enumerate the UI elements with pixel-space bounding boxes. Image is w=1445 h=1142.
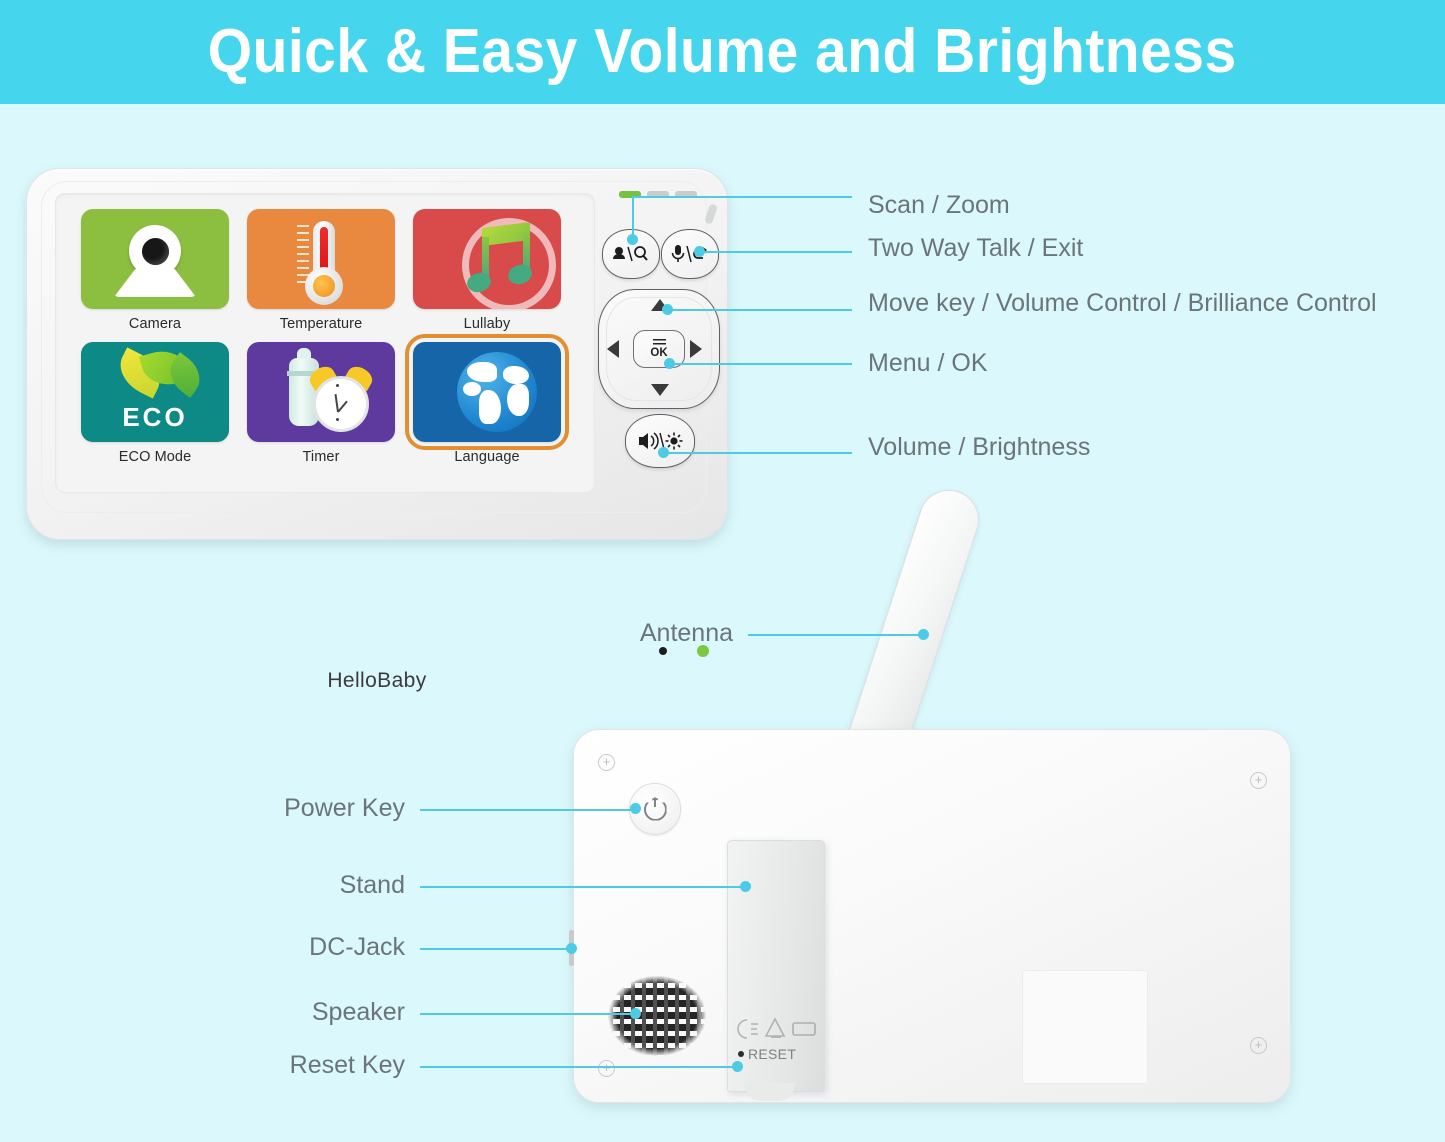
reset-label: RESET bbox=[748, 1046, 796, 1062]
eco-mode-tile-label: ECO Mode bbox=[81, 449, 229, 465]
callout-scan-zoom: Scan / Zoom bbox=[868, 193, 1010, 218]
screw-top-right: + bbox=[1250, 772, 1267, 789]
menu-item-camera[interactable]: Camera bbox=[81, 209, 229, 332]
lead-dot-dc-jack bbox=[566, 943, 577, 954]
lead-dot-power-key bbox=[630, 803, 641, 814]
page-title: Quick & Easy Volume and Brightness bbox=[208, 21, 1237, 83]
lead-dot-menu-ok bbox=[664, 358, 675, 369]
callout-stand: Stand bbox=[340, 873, 405, 898]
speaker-grille bbox=[598, 964, 716, 1068]
timer-tile[interactable] bbox=[247, 342, 395, 442]
lead-line-move-key bbox=[668, 309, 852, 311]
lead-line-menu-ok bbox=[670, 363, 852, 365]
dpad-left-arrow-icon[interactable] bbox=[607, 340, 619, 358]
callout-speaker: Speaker bbox=[312, 1000, 405, 1025]
callout-menu-ok: Menu / OK bbox=[868, 351, 988, 376]
lead-dot-scan-zoom bbox=[627, 234, 638, 245]
eco-tile-text: ECO bbox=[81, 402, 229, 433]
eco-mode-tile[interactable]: ECO bbox=[81, 342, 229, 442]
temperature-tile[interactable] bbox=[247, 209, 395, 309]
callout-reset-key: Reset Key bbox=[290, 1053, 405, 1078]
reset-pinhole[interactable] bbox=[738, 1051, 744, 1057]
menu-item-lullaby[interactable]: Lullaby bbox=[413, 209, 561, 332]
lead-line-antenna bbox=[748, 634, 924, 636]
menu-lines-icon bbox=[653, 339, 666, 347]
ok-button-label: OK bbox=[650, 348, 667, 360]
menu-tile-grid: Camera Temperature bbox=[81, 209, 571, 465]
camera-tile[interactable] bbox=[81, 209, 229, 309]
header-banner: Quick & Easy Volume and Brightness bbox=[0, 0, 1445, 104]
lead-dot-stand bbox=[740, 881, 751, 892]
camera-magnifier-icon bbox=[611, 244, 651, 264]
callout-volume-brightness: Volume / Brightness bbox=[868, 435, 1090, 460]
lead-dot-antenna bbox=[918, 629, 929, 640]
lead-dot-talk-exit bbox=[694, 246, 705, 257]
language-tile[interactable] bbox=[413, 342, 561, 442]
lead-dot-move-key bbox=[662, 304, 673, 315]
lead-dot-speaker bbox=[630, 1008, 641, 1019]
dpad-right-arrow-icon[interactable] bbox=[690, 340, 702, 358]
lead-line-reset-key bbox=[420, 1066, 738, 1068]
language-tile-label: Language bbox=[413, 449, 561, 465]
callout-move-key: Move key / Volume Control / Brilliance C… bbox=[868, 291, 1377, 316]
callout-power-key: Power Key bbox=[284, 796, 405, 821]
lead-line-talk-exit bbox=[700, 251, 852, 253]
menu-item-eco-mode[interactable]: ECO ECO Mode bbox=[81, 342, 229, 465]
callout-antenna: Antenna bbox=[640, 621, 733, 646]
globe-icon bbox=[457, 352, 537, 432]
lead-line-dc-jack bbox=[420, 948, 570, 950]
lead-line-power-key bbox=[420, 809, 636, 811]
screw-bottom-right: + bbox=[1250, 1037, 1267, 1054]
callout-talk-exit: Two Way Talk / Exit bbox=[868, 236, 1083, 261]
timer-tile-label: Timer bbox=[247, 449, 395, 465]
monitor-screen: Camera Temperature bbox=[55, 193, 595, 493]
brand-logo: HelloBaby bbox=[27, 669, 727, 693]
lead-line-speaker bbox=[420, 1013, 636, 1015]
lead-dot-reset-key bbox=[732, 1061, 743, 1072]
menu-item-timer[interactable]: Timer bbox=[247, 342, 395, 465]
lead-line-stand bbox=[420, 886, 746, 888]
menu-item-temperature[interactable]: Temperature bbox=[247, 209, 395, 332]
lullaby-tile[interactable] bbox=[413, 209, 561, 309]
menu-item-language[interactable]: Language bbox=[413, 342, 561, 465]
lead-line-scan-zoom bbox=[632, 196, 852, 198]
volume-brightness-button[interactable] bbox=[625, 414, 695, 468]
temperature-tile-label: Temperature bbox=[247, 316, 395, 332]
dpad-down-arrow-icon[interactable] bbox=[651, 384, 669, 396]
screw-top-left: + bbox=[598, 754, 615, 771]
stand-foot bbox=[745, 1083, 795, 1101]
product-label-plate bbox=[1022, 970, 1148, 1084]
certification-marks-icon bbox=[735, 1016, 821, 1042]
camera-tile-label: Camera bbox=[81, 316, 229, 332]
lead-dot-volume-brightness bbox=[658, 447, 669, 458]
lead-line-volume-brightness bbox=[664, 452, 852, 454]
callout-dc-jack: DC-Jack bbox=[309, 935, 405, 960]
talk-exit-button[interactable] bbox=[661, 229, 719, 279]
power-icon bbox=[644, 798, 667, 821]
microphone-hole bbox=[659, 647, 667, 655]
lullaby-tile-label: Lullaby bbox=[413, 316, 561, 332]
